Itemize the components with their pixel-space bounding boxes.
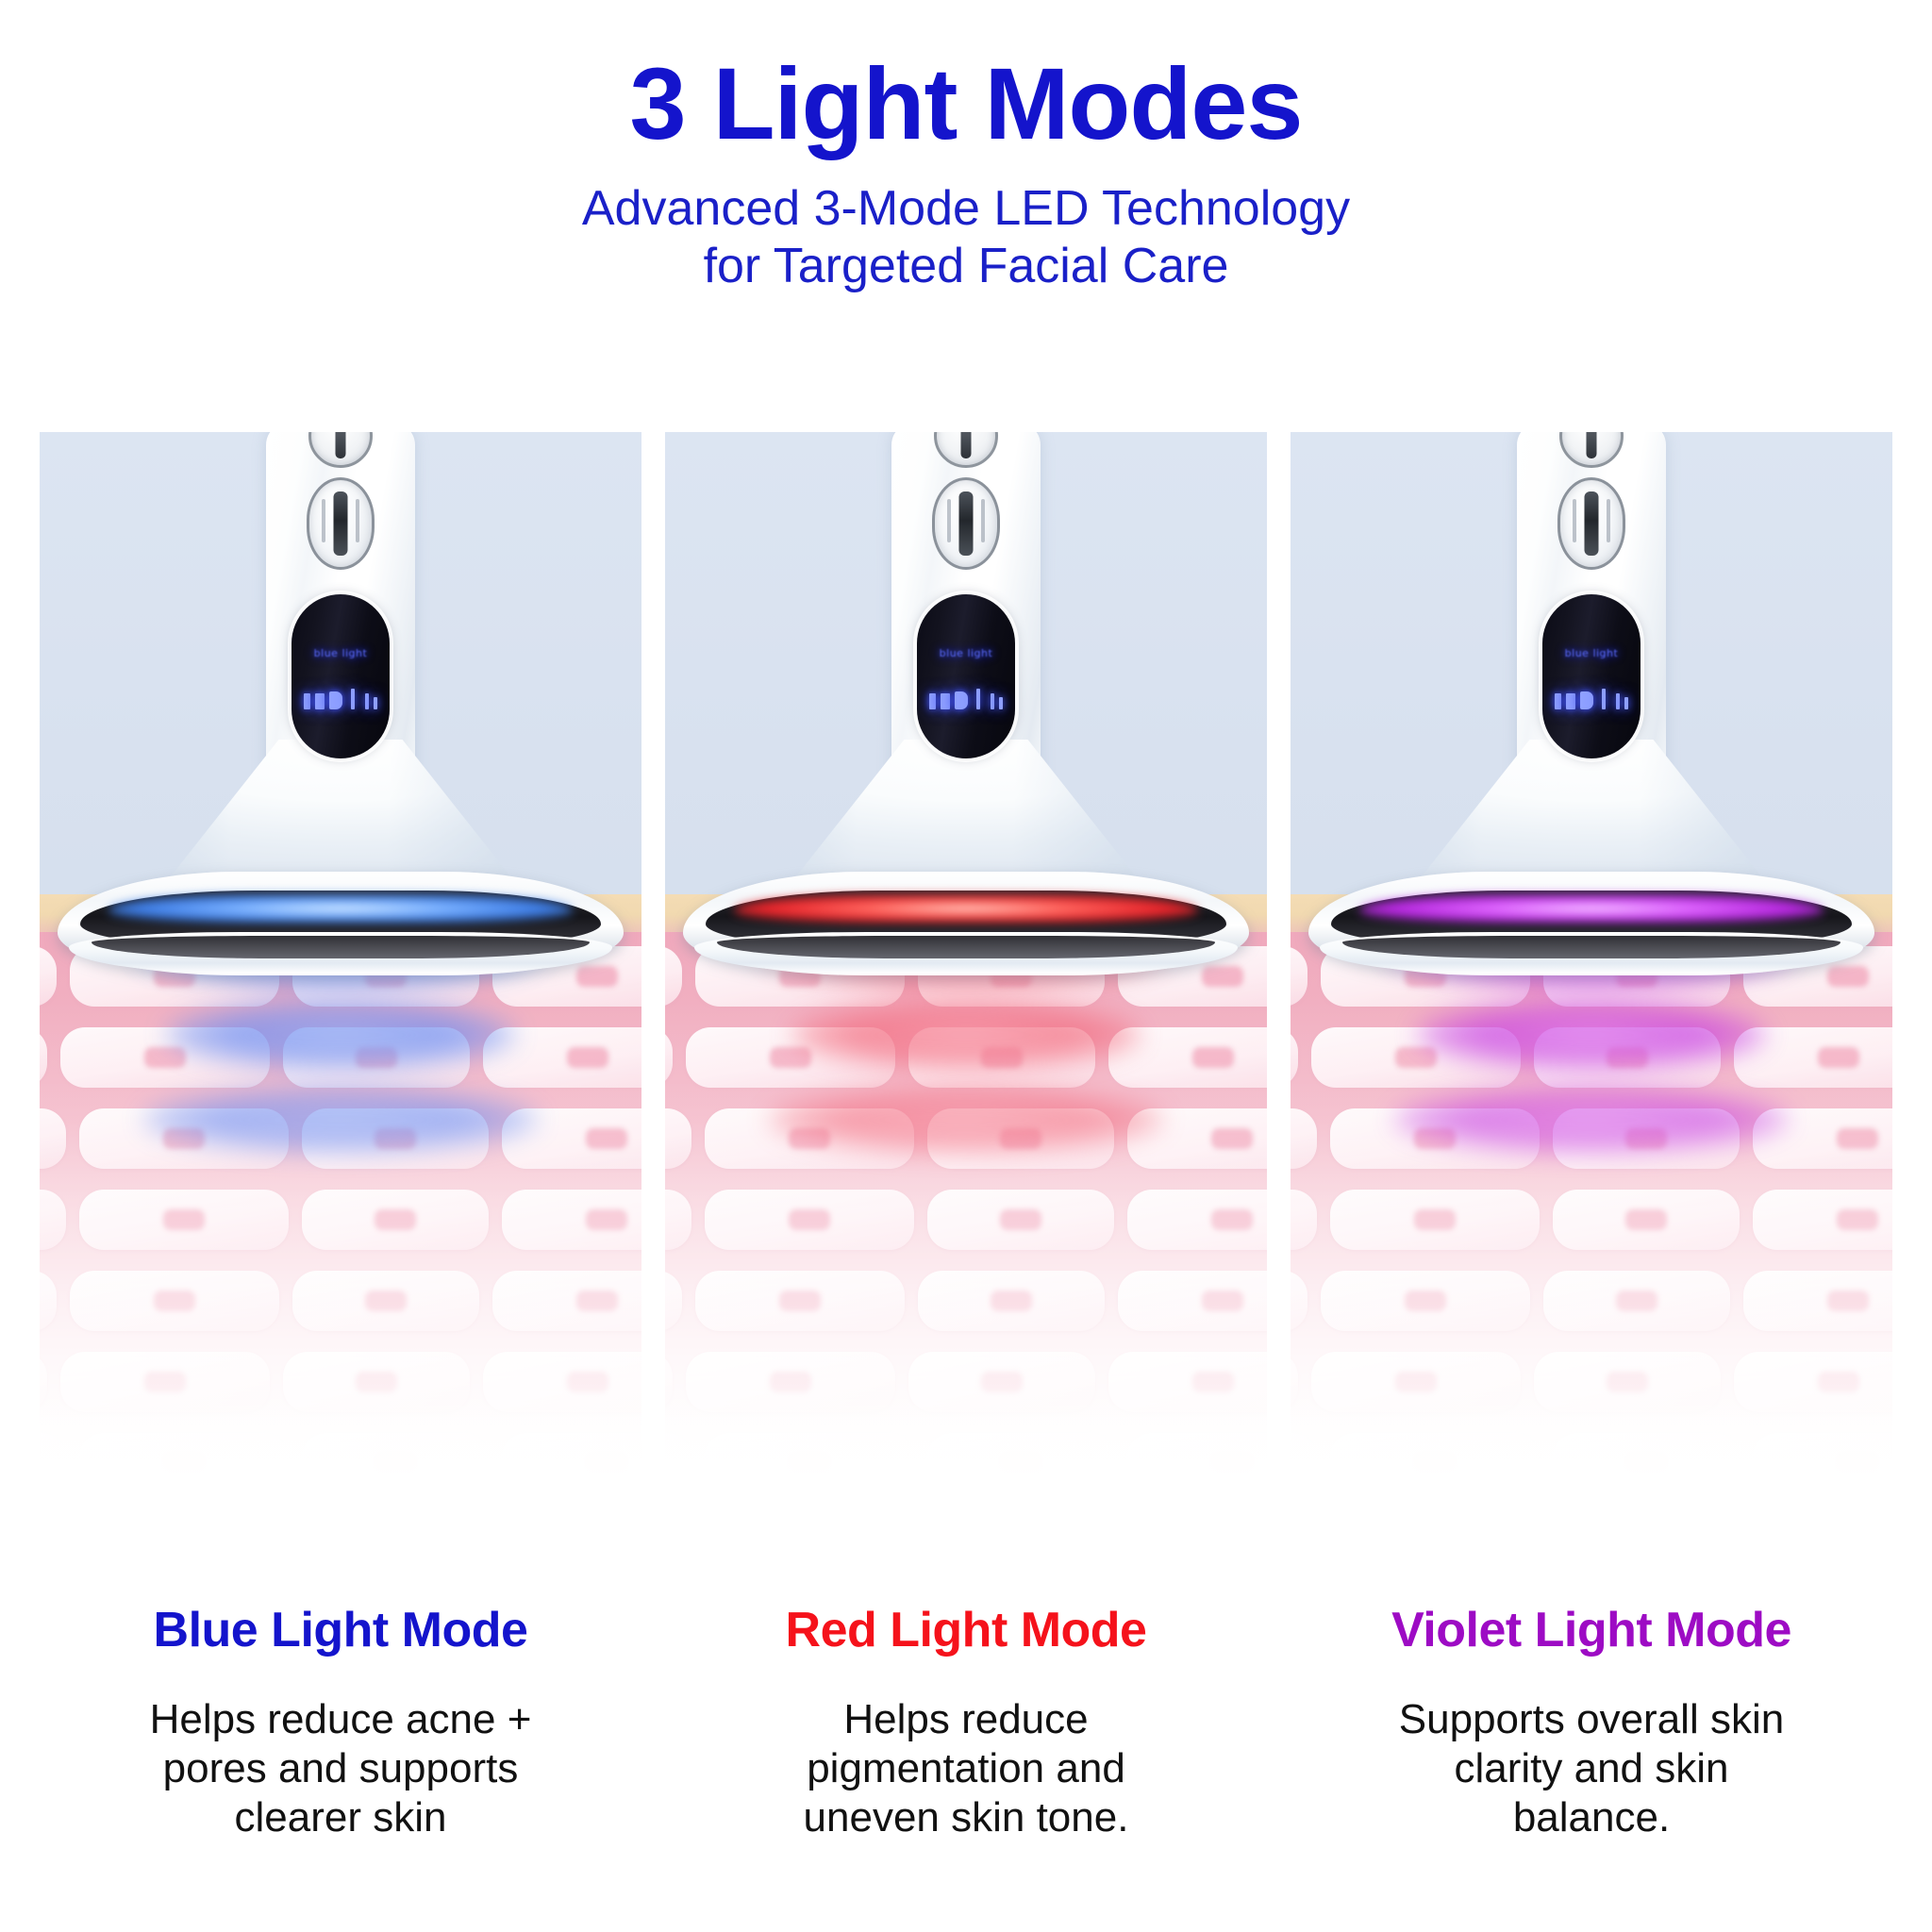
lcd-bar <box>929 693 936 709</box>
lcd-bar <box>991 693 994 709</box>
lcd-bar <box>1602 689 1606 709</box>
led-head-lip <box>717 936 1215 958</box>
skin-cell <box>1753 1108 1892 1169</box>
lcd-mode-text: blue light <box>917 647 1015 659</box>
skin-cell <box>665 1108 691 1169</box>
caption-violet: Violet Light Mode Supports overall skin … <box>1291 1604 1892 1842</box>
skin-cell <box>927 1190 1114 1250</box>
cell-row <box>665 1104 1267 1174</box>
skin-cell <box>1127 1108 1267 1169</box>
cell-row <box>665 1023 1267 1092</box>
lcd-bar <box>1566 693 1575 709</box>
desc-line: Helps reduce acne + <box>150 1696 532 1742</box>
led-glow-blue <box>108 894 573 923</box>
lcd-level-bars <box>291 685 390 709</box>
panel-bottom-fade <box>665 1394 1267 1517</box>
desc-line: uneven skin tone. <box>804 1794 1129 1840</box>
lcd-bar <box>315 693 325 709</box>
skin-cell <box>665 946 682 1007</box>
skin-cell <box>1291 1271 1307 1331</box>
cell-row <box>665 1185 1267 1255</box>
mode-caption-row: Blue Light Mode Helps reduce acne + pore… <box>40 1604 1892 1842</box>
cell-row <box>40 1104 641 1174</box>
skin-cell <box>1330 1108 1540 1169</box>
mode-button-icon[interactable] <box>1557 477 1625 570</box>
caption-red: Red Light Mode Helps reduce pigmentation… <box>665 1604 1267 1842</box>
skin-cell <box>918 1271 1105 1331</box>
page-subtitle: Advanced 3-Mode LED Technology for Targe… <box>0 180 1932 296</box>
lcd-level-bars <box>1542 685 1641 709</box>
lcd-bar <box>1555 693 1561 709</box>
skin-cell <box>1291 1190 1317 1250</box>
desc-line: clarity and skin <box>1454 1745 1728 1791</box>
skin-cell <box>79 1108 289 1169</box>
button-tick-left <box>1573 499 1576 542</box>
desc-line: Supports overall skin <box>1399 1696 1784 1742</box>
skin-cell <box>1543 1271 1730 1331</box>
cell-row <box>40 1023 641 1092</box>
skin-cell <box>686 1027 895 1088</box>
desc-line: balance. <box>1513 1794 1670 1840</box>
cell-row <box>1291 1023 1892 1092</box>
skin-cell <box>1753 1190 1892 1250</box>
skin-cell <box>483 1027 641 1088</box>
skin-cell <box>1127 1190 1267 1250</box>
desc-line: pores and supports <box>163 1745 519 1791</box>
skin-cell <box>665 1271 682 1331</box>
lcd-bar <box>941 693 950 709</box>
mode-label-blue: Blue Light Mode <box>40 1604 641 1657</box>
lcd-bar <box>1624 697 1628 709</box>
skin-cell <box>927 1108 1114 1169</box>
skin-cell <box>40 1271 57 1331</box>
led-device-blue: blue light <box>223 432 458 919</box>
panel-bottom-fade <box>1291 1394 1892 1517</box>
page-title: 3 Light Modes <box>0 49 1932 159</box>
lcd-mode-text: blue light <box>291 647 390 659</box>
mode-panel-row: blue light <box>40 432 1892 1517</box>
mode-description-blue: Helps reduce acne + pores and supports c… <box>40 1695 641 1842</box>
skin-cell <box>283 1027 470 1088</box>
skin-cell <box>1330 1190 1540 1250</box>
lcd-bar <box>955 691 968 709</box>
skin-cell <box>665 1190 691 1250</box>
mode-button-icon[interactable] <box>307 477 375 570</box>
skin-cell <box>502 1108 641 1169</box>
lcd-bar <box>304 693 310 709</box>
skin-cell <box>70 1271 279 1331</box>
cell-row <box>1291 1185 1892 1255</box>
caption-blue: Blue Light Mode Helps reduce acne + pore… <box>40 1604 641 1842</box>
skin-cell <box>302 1108 489 1169</box>
lcd-bar <box>976 689 980 709</box>
skin-cell <box>40 1190 66 1250</box>
skin-cell <box>1311 1027 1521 1088</box>
lcd-bar <box>999 697 1003 709</box>
led-head-lip <box>1342 936 1840 958</box>
skin-cell <box>40 946 57 1007</box>
subtitle-line-2: for Targeted Facial Care <box>0 238 1932 295</box>
skin-cell <box>79 1190 289 1250</box>
skin-cell <box>1291 1027 1298 1088</box>
skin-cell <box>1118 1271 1267 1331</box>
cell-row <box>1291 1266 1892 1336</box>
button-tick-left <box>947 499 951 542</box>
skin-cell <box>695 1271 905 1331</box>
device-lcd-screen: blue light <box>1542 594 1641 758</box>
device-lcd-screen: blue light <box>291 594 390 758</box>
mode-label-violet: Violet Light Mode <box>1291 1604 1892 1657</box>
button-tick-right <box>981 499 985 542</box>
cell-row <box>40 1185 641 1255</box>
lcd-bar <box>329 691 342 709</box>
button-tick-left <box>322 499 325 542</box>
lcd-mode-text: blue light <box>1542 647 1641 659</box>
lcd-bar <box>374 697 377 709</box>
mode-description-red: Helps reduce pigmentation and uneven ski… <box>665 1695 1267 1842</box>
mode-button-icon[interactable] <box>932 477 1000 570</box>
skin-cell <box>1553 1108 1740 1169</box>
mode-panel-violet: blue light <box>1291 432 1892 1517</box>
subtitle-line-1: Advanced 3-Mode LED Technology <box>0 180 1932 238</box>
skin-cell <box>60 1027 270 1088</box>
led-treatment-head-blue <box>58 872 624 975</box>
button-tick-right <box>356 499 359 542</box>
led-glow-violet <box>1359 894 1824 923</box>
mode-panel-red: blue light <box>665 432 1267 1517</box>
skin-cell <box>908 1027 1095 1088</box>
button-tick-right <box>1607 499 1610 542</box>
led-glow-red <box>734 894 1198 923</box>
skin-cell <box>1291 1108 1317 1169</box>
desc-line: Helps reduce <box>843 1696 1088 1742</box>
cell-row <box>665 1266 1267 1336</box>
skin-cell <box>40 1108 66 1169</box>
mode-label-red: Red Light Mode <box>665 1604 1267 1657</box>
skin-cell <box>502 1190 641 1250</box>
panel-bottom-fade <box>40 1394 641 1517</box>
skin-cell <box>302 1190 489 1250</box>
mode-description-violet: Supports overall skin clarity and skin b… <box>1291 1695 1892 1842</box>
skin-cell <box>1108 1027 1267 1088</box>
cell-row <box>40 1266 641 1336</box>
device-lcd-screen: blue light <box>917 594 1015 758</box>
skin-cell <box>1291 946 1307 1007</box>
skin-cell <box>1743 1271 1892 1331</box>
skin-cell <box>1734 1027 1892 1088</box>
skin-cell <box>705 1190 914 1250</box>
skin-cell <box>665 1027 673 1088</box>
led-device-red: blue light <box>848 432 1084 919</box>
led-device-violet: blue light <box>1474 432 1709 919</box>
lcd-bar <box>1616 693 1620 709</box>
desc-line: pigmentation and <box>807 1745 1125 1791</box>
led-treatment-head-red <box>683 872 1249 975</box>
skin-cell <box>1553 1190 1740 1250</box>
led-treatment-head-violet <box>1308 872 1874 975</box>
skin-cell <box>705 1108 914 1169</box>
lcd-level-bars <box>917 685 1015 709</box>
lcd-bar <box>351 689 355 709</box>
header: 3 Light Modes Advanced 3-Mode LED Techno… <box>0 0 1932 295</box>
skin-cell <box>1534 1027 1721 1088</box>
skin-cell <box>40 1027 47 1088</box>
lcd-bar <box>365 693 369 709</box>
led-head-lip <box>92 936 590 958</box>
skin-cell <box>1321 1271 1530 1331</box>
desc-line: clearer skin <box>235 1794 447 1840</box>
mode-panel-blue: blue light <box>40 432 641 1517</box>
skin-cell <box>292 1271 479 1331</box>
lcd-bar <box>1580 691 1593 709</box>
skin-cell <box>492 1271 641 1331</box>
cell-row <box>1291 1104 1892 1174</box>
